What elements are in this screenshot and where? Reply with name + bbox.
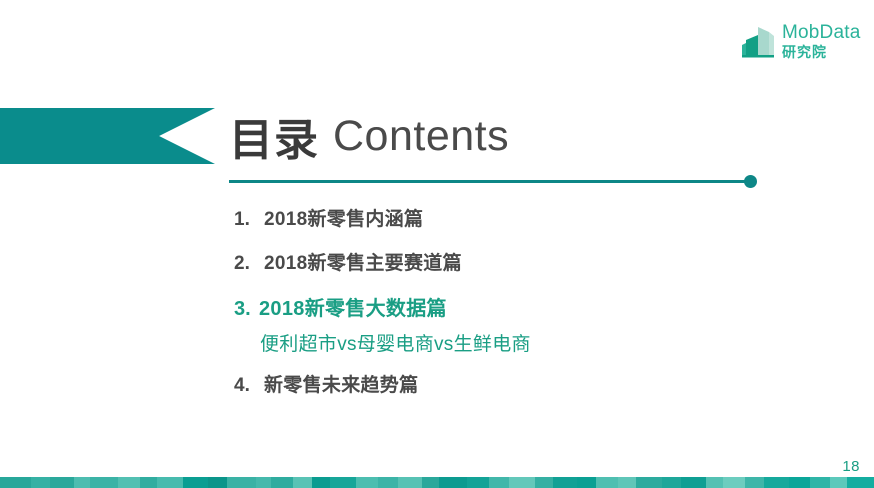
footer-bar-segment <box>618 477 635 488</box>
page-number: 18 <box>842 458 860 475</box>
list-item-number: 3. <box>234 298 259 321</box>
footer-bar-segment <box>330 477 356 488</box>
footer-bar-segment <box>467 477 489 488</box>
footer-bar-segment <box>183 477 207 488</box>
list-item-label: 2018新零售内涵篇 <box>264 204 423 231</box>
title-divider-line <box>229 180 749 183</box>
list-item[interactable]: 4. 新零售未来趋势篇 <box>234 370 754 397</box>
footer-bar-segment <box>271 477 293 488</box>
footer-bar-segment <box>50 477 74 488</box>
footer-bar-segment <box>439 477 467 488</box>
contents-list: 1. 2018新零售内涵篇 2. 2018新零售主要赛道篇 3. 2018新零售… <box>234 204 754 414</box>
list-item[interactable]: 1. 2018新零售内涵篇 <box>234 204 754 231</box>
footer-bar-segment <box>398 477 422 488</box>
list-subitem-label[interactable]: 便利超市vs母婴电商vs生鲜电商 <box>260 329 754 356</box>
list-item[interactable]: 2. 2018新零售主要赛道篇 <box>234 248 754 275</box>
footer-bar-segment <box>662 477 682 488</box>
footer-bar-segment <box>847 477 873 488</box>
footer-color-bar <box>0 477 874 488</box>
list-item-number: 4. <box>234 375 264 397</box>
footer-bar-segment <box>509 477 535 488</box>
footer-bar-segment <box>577 477 597 488</box>
brand-logo: MobData 研究院 <box>738 22 866 66</box>
footer-bar-segment <box>681 477 705 488</box>
footer-bar-segment <box>830 477 847 488</box>
footer-bar-segment <box>74 477 89 488</box>
footer-bar-segment <box>596 477 618 488</box>
footer-bar-segment <box>745 477 765 488</box>
list-item-number: 2. <box>234 253 264 275</box>
page-title-en: Contents <box>333 112 509 161</box>
footer-bar-segment <box>90 477 118 488</box>
slide-canvas: MobData 研究院 目录 Contents 1. 2018新零售内涵篇 2.… <box>0 0 874 488</box>
brand-logo-text: MobData 研究院 <box>782 22 866 61</box>
title-divider-dot <box>744 175 757 188</box>
footer-bar-segment <box>140 477 157 488</box>
footer-bar-segment <box>356 477 378 488</box>
footer-bar-segment <box>256 477 271 488</box>
list-item-active[interactable]: 3. 2018新零售大数据篇 <box>234 292 754 321</box>
list-item-label: 2018新零售主要赛道篇 <box>264 248 462 275</box>
footer-bar-segment <box>0 477 31 488</box>
list-item-label: 新零售未来趋势篇 <box>264 370 418 397</box>
brand-sub-name: 研究院 <box>782 43 866 61</box>
footer-bar-segment <box>764 477 788 488</box>
footer-bar-segment <box>553 477 577 488</box>
footer-bar-segment <box>157 477 183 488</box>
footer-bar-segment <box>789 477 811 488</box>
mobdata-building-icon <box>738 24 778 64</box>
footer-bar-segment <box>227 477 255 488</box>
footer-bar-segment <box>208 477 228 488</box>
page-title: 目录 Contents <box>229 104 509 168</box>
footer-bar-segment <box>31 477 51 488</box>
brand-name: MobData <box>782 22 866 43</box>
footer-bar-segment <box>636 477 662 488</box>
list-item-label: 2018新零售大数据篇 <box>259 292 447 321</box>
footer-bar-segment <box>293 477 313 488</box>
page-title-cn: 目录 <box>229 104 319 168</box>
footer-bar-segment <box>723 477 745 488</box>
footer-bar-segment <box>312 477 329 488</box>
footer-bar-segment <box>706 477 723 488</box>
list-item-number: 1. <box>234 209 264 231</box>
title-banner-arrow <box>0 108 215 164</box>
footer-bar-segment <box>422 477 439 488</box>
footer-bar-segment <box>489 477 509 488</box>
footer-bar-segment <box>118 477 140 488</box>
footer-bar-segment <box>535 477 552 488</box>
footer-bar-segment <box>810 477 830 488</box>
footer-bar-segment <box>378 477 398 488</box>
